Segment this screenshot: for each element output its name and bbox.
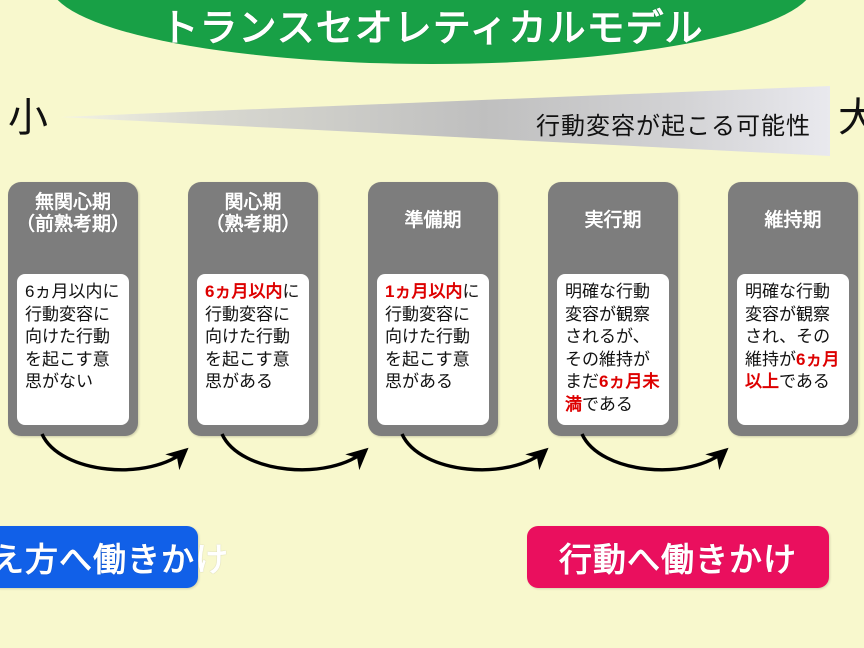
stage-description: 明確な行動変容が観察されるが、その維持がまだ6ヵ月未満である: [557, 274, 669, 425]
banner-approach-thinking[interactable]: 考え方へ働きかけ: [0, 526, 198, 588]
likelihood-label-small: 小: [8, 98, 48, 138]
stage-heading: 無関心期（前熟考期）: [8, 182, 138, 237]
progression-arrow: [582, 434, 726, 470]
arrow-group: [42, 434, 726, 470]
stage-description: 明確な行動変容が観察され、その維持が6ヵ月以上である: [737, 274, 849, 425]
stage-description: 6ヵ月以内に行動変容に向けた行動を起こす意思がない: [17, 274, 129, 425]
stage-box-precontemplation[interactable]: 無関心期（前熟考期） 6ヵ月以内に行動変容に向けた行動を起こす意思がない: [8, 182, 138, 436]
likelihood-axis: 小 行動変容が起こる可能性 大: [0, 86, 864, 160]
body-text: 6ヵ月以内: [25, 282, 102, 301]
progression-arrow: [402, 434, 546, 470]
stage-description: 6ヵ月以内に行動変容に向けた行動を起こす意思がある: [197, 274, 309, 425]
stage-box-contemplation[interactable]: 関心期（熟考期） 6ヵ月以内に行動変容に向けた行動を起こす意思がある: [188, 182, 318, 436]
likelihood-caption: 行動変容が起こる可能性: [536, 106, 811, 141]
body-text: である: [779, 372, 830, 391]
progression-arrows: [0, 430, 864, 500]
likelihood-label-large: 大: [838, 98, 864, 138]
highlight-text: 6ヵ月以内: [205, 282, 282, 301]
title-ellipse: トランスセオレティカルモデル: [50, 0, 814, 64]
stage-heading: 実行期: [548, 182, 678, 232]
banner-label: 行動へ働きかけ: [559, 533, 797, 581]
stage-description: 1ヵ月以内に行動変容に向けた行動を起こす意思がある: [377, 274, 489, 425]
banner-label: 考え方へ働きかけ: [0, 533, 229, 581]
page-title: トランスセオレティカルモデル: [161, 10, 704, 64]
highlight-text: 1ヵ月以内: [385, 282, 462, 301]
diagram-canvas: トランスセオレティカルモデル 小 行動変容が起こる可能性 大 無関心期（前熟考期…: [0, 0, 864, 648]
stage-box-maintenance[interactable]: 維持期 明確な行動変容が観察され、その維持が6ヵ月以上である: [728, 182, 858, 436]
progression-arrow: [42, 434, 186, 470]
stage-box-action[interactable]: 実行期 明確な行動変容が観察されるが、その維持がまだ6ヵ月未満である: [548, 182, 678, 436]
stage-box-preparation[interactable]: 準備期 1ヵ月以内に行動変容に向けた行動を起こす意思がある: [368, 182, 498, 436]
body-text: である: [582, 395, 633, 414]
stage-heading: 維持期: [728, 182, 858, 232]
stage-heading: 準備期: [368, 182, 498, 232]
progression-arrow: [222, 434, 366, 470]
banner-approach-behavior[interactable]: 行動へ働きかけ: [527, 526, 829, 588]
stage-heading: 関心期（熟考期）: [188, 182, 318, 237]
